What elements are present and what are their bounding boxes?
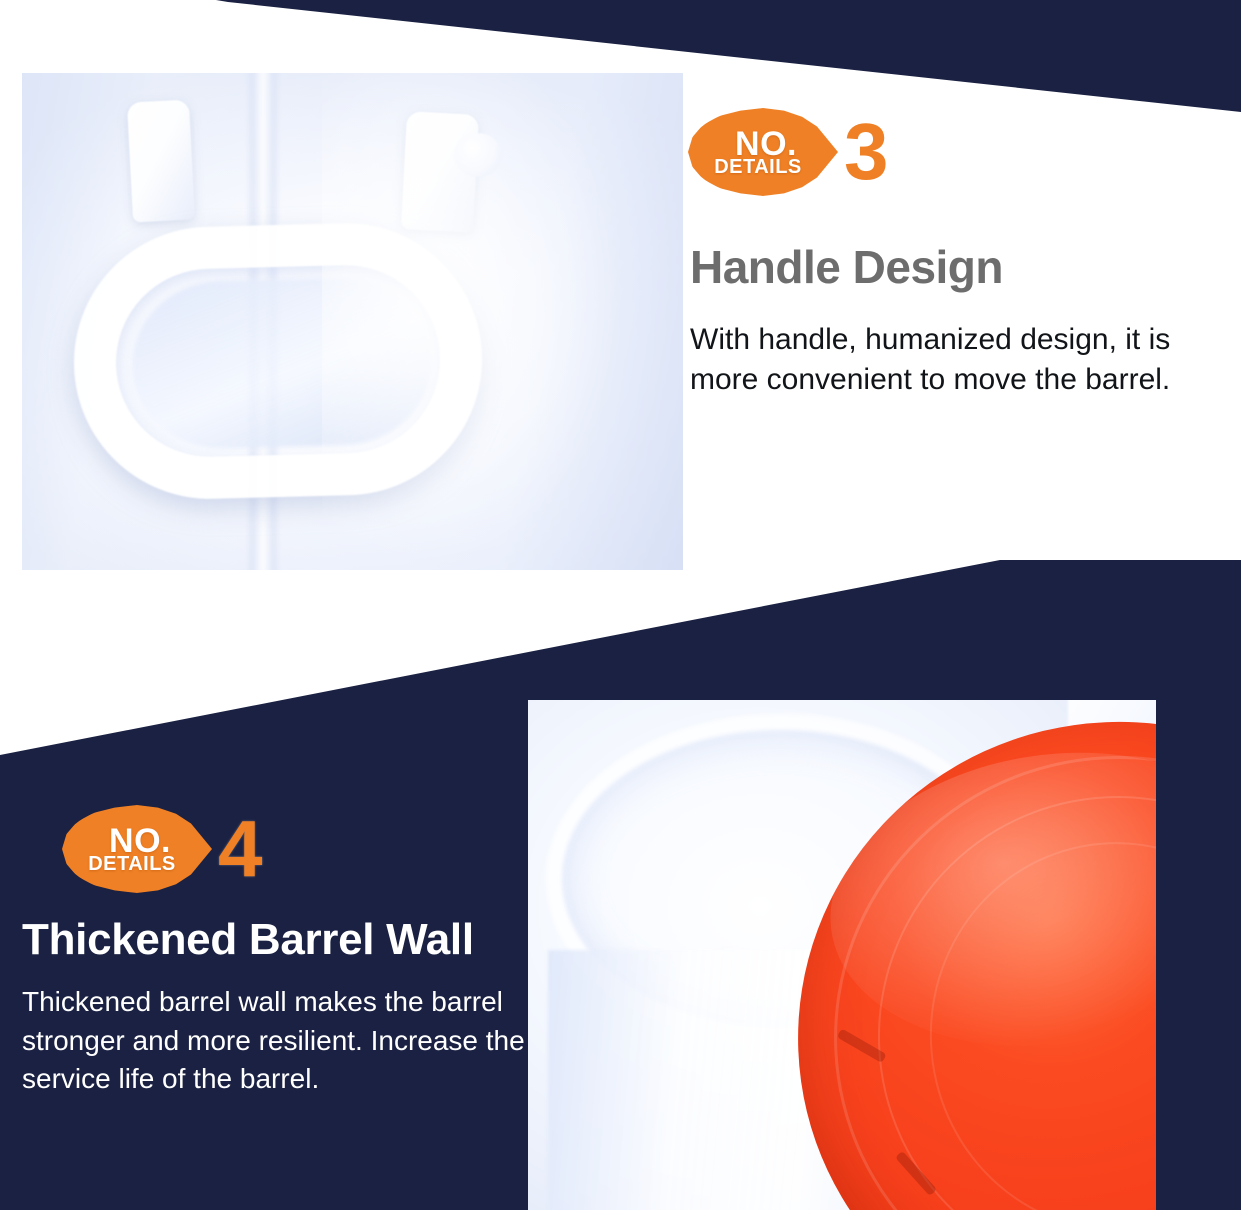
barrel-wall-body: Thickened barrel wall makes the barrel s… (22, 983, 562, 1099)
product-detail-poster: NO. DETAILS 3 Handle Design With handle,… (0, 0, 1241, 1210)
detail-badge-3: NO. DETAILS 3 (688, 108, 889, 196)
no-details-badge-icon: NO. DETAILS (62, 805, 212, 893)
handle-design-body: With handle, humanized design, it is mor… (690, 320, 1235, 399)
detail-badge-4: NO. DETAILS 4 (62, 805, 263, 893)
barrel-wall-photo-panel (528, 700, 1156, 1210)
photo-highlight (322, 73, 622, 570)
badge-number: 4 (218, 813, 263, 885)
badge-details-label: DETAILS (714, 157, 802, 177)
no-details-badge-icon: NO. DETAILS (688, 108, 838, 196)
barrel-wall-title: Thickened Barrel Wall (22, 915, 562, 965)
barrel-wall-text-block: Thickened Barrel Wall Thickened barrel w… (22, 915, 562, 1099)
handle-mount-left-icon (127, 99, 195, 222)
badge-details-label: DETAILS (88, 854, 176, 874)
handle-design-title: Handle Design (690, 240, 1235, 294)
badge-number: 3 (844, 116, 889, 188)
handle-design-text-block: Handle Design With handle, humanized des… (690, 240, 1235, 399)
handle-photo-panel (22, 73, 683, 570)
